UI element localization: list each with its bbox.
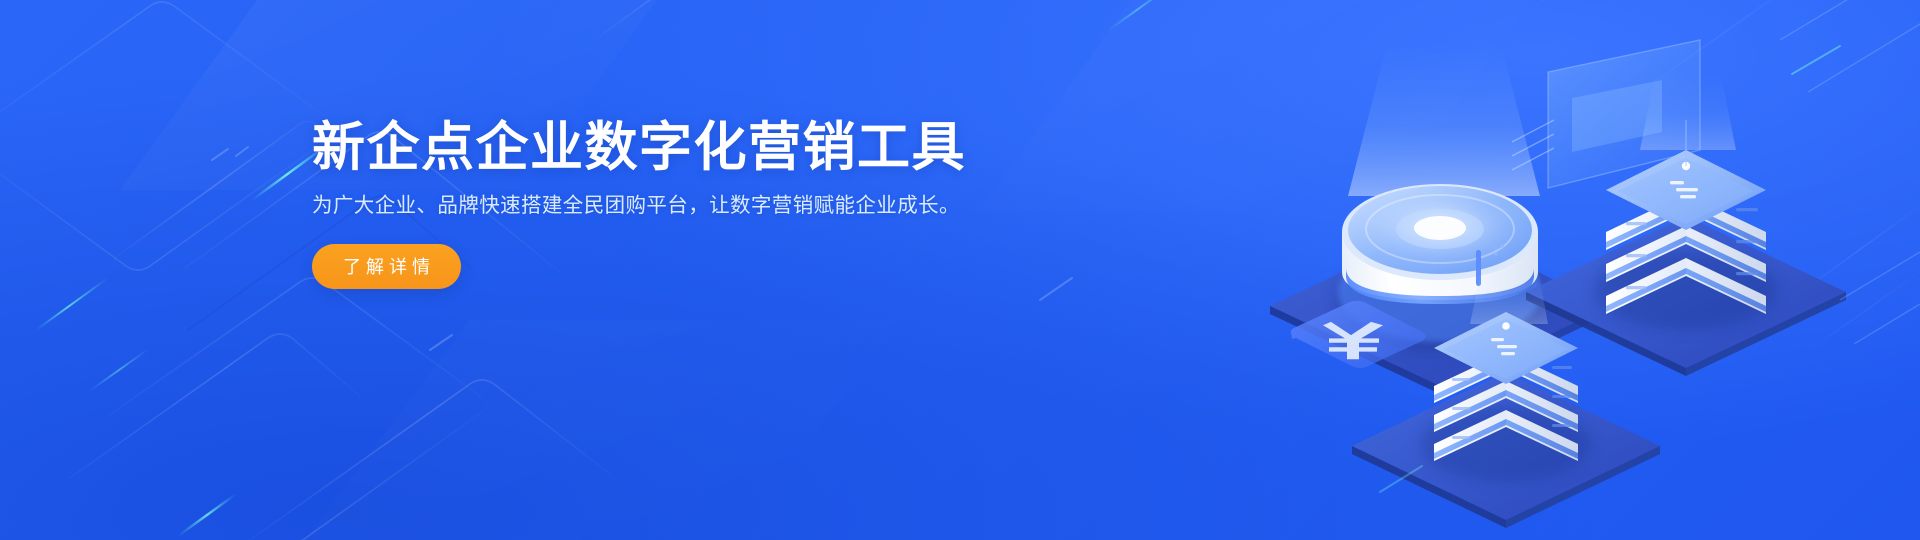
page-subtitle: 为广大企业、品牌快速搭建全民团购平台，让数字营销赋能企业成长。	[312, 193, 1012, 220]
promo-banner: 新企点企业数字化营销工具 为广大企业、品牌快速搭建全民团购平台，让数字营销赋能企…	[0, 0, 1920, 540]
learn-more-button[interactable]: 了解详情	[312, 244, 461, 289]
page-title: 新企点企业数字化营销工具	[312, 120, 1012, 176]
hero-illustration	[1140, 0, 1920, 540]
light-beam	[1348, 40, 1540, 196]
banner-content: 新企点企业数字化营销工具 为广大企业、品牌快速搭建全民团购平台，让数字营销赋能企…	[312, 120, 1012, 289]
isometric-datacenter-illustration	[1140, 0, 1920, 540]
